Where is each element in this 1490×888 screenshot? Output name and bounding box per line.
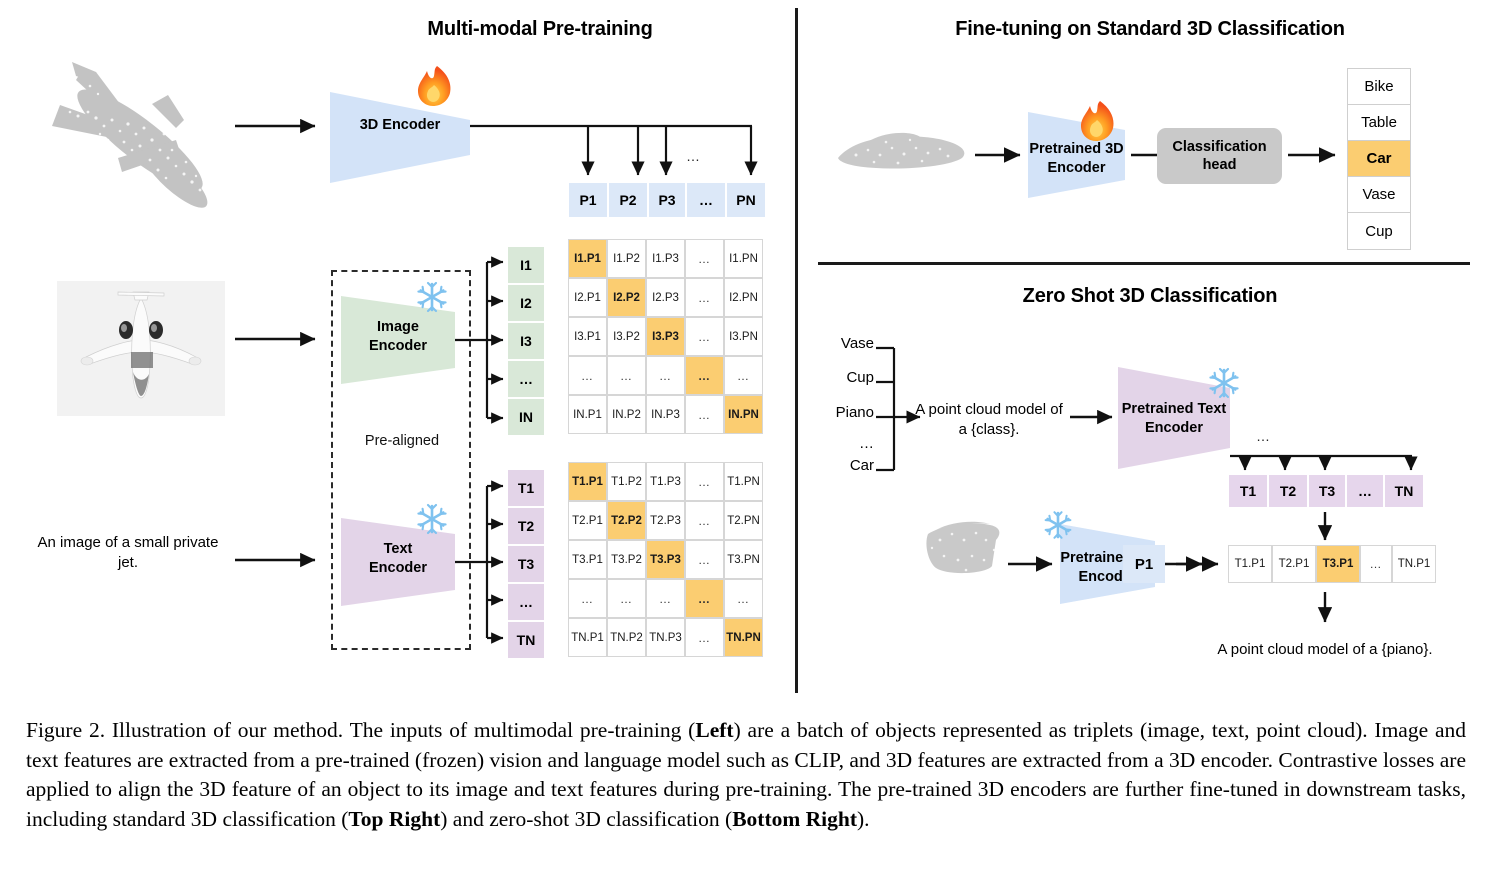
text-sim-cell-r3-c1: T3.P1 [568,540,607,579]
token-i3: I3 [507,322,545,360]
text-sim-cell-r3-c2: T3.P2 [607,540,646,579]
class-option-table[interactable]: Table [1348,105,1410,141]
figure-diagram: Multi-modal Pre-training Fine-tuning on … [0,0,1490,700]
token-t-ellipsis: … [507,583,545,621]
text-sim-cell-r4-c4: … [685,579,724,618]
label-zeroshot-text-encoder-line2: Encoder [1118,419,1230,438]
snowflake-icon-zeroshot-3d-encoder [1046,512,1071,538]
zeroshot-prompt-line2: a {class}. [910,420,1068,440]
image-sim-cell-r5-c5: IN.PN [724,395,763,434]
label-prealigned: Pre-aligned [342,433,462,449]
text-sim-cell-r2-c4: … [685,501,724,540]
text-sim-cell-r5-c1: TN.P1 [568,618,607,657]
point-cloud-piano [926,522,999,573]
panel-title-zeroshot: Zero Shot 3D Classification [840,285,1460,308]
token-p2: P2 [608,182,648,218]
class-option-cup[interactable]: Cup [1348,213,1410,249]
zeroshot-text-token-row: T1 T2 T3 … TN [1228,474,1424,508]
token-i-ellipsis: … [507,360,545,398]
fire-icon-pretraining [418,66,450,106]
zeroshot-sim-cell-3: T3.P1 [1316,545,1360,583]
horizontal-divider [818,262,1470,265]
text-sim-cell-r5-c3: TN.P3 [646,618,685,657]
image-sim-cell-r3-c5: I3.PN [724,317,763,356]
text-sim-cell-r3-c3: T3.P3 [646,540,685,579]
text-sim-cell-r4-c1: … [568,579,607,618]
image-sim-cell-r1-c1: I1.P1 [568,239,607,278]
image-sim-cell-r5-c2: IN.P2 [607,395,646,434]
zeroshot-fanout-ellipsis: … [1256,428,1271,444]
token-tn: TN [507,621,545,659]
text-sim-cell-r1-c2: T1.P2 [607,462,646,501]
text-similarity-matrix: T1.P1T1.P2T1.P3…T1.PNT2.P1T2.P2T2.P3…T2.… [568,462,763,657]
zeroshot-sim-cell-2: T2.P1 [1272,545,1316,583]
token-t1: T1 [507,469,545,507]
zeroshot-similarity-row: T1.P1T2.P1T3.P1…TN.P1 [1228,545,1436,583]
caption-part-6: Bottom Right [732,807,857,831]
zeroshot-token-t1: T1 [1228,474,1268,508]
image-sim-cell-r4-c5: … [724,356,763,395]
zeroshot-token-t-ellipsis: … [1346,474,1384,508]
label-finetune-3d-encoder-line2: Encoder [1028,159,1125,178]
token-p3: P3 [648,182,686,218]
figure-caption: Figure 2. Illustration of our method. Th… [26,716,1466,835]
label-finetune-3d-encoder: Pretrained 3D Encoder [1028,140,1125,177]
zeroshot-class-name-3: Piano [812,404,874,421]
zeroshot-sim-cell-1: T1.P1 [1228,545,1272,583]
zeroshot-prompt-template: A point cloud model of a {class}. [910,400,1068,441]
text-sim-cell-r2-c2: T2.P2 [607,501,646,540]
class-option-bike[interactable]: Bike [1348,69,1410,105]
image-sim-cell-r3-c4: … [685,317,724,356]
zeroshot-token-tn: TN [1384,474,1424,508]
image-sim-cell-r2-c4: … [685,278,724,317]
text-sim-cell-r1-c1: T1.P1 [568,462,607,501]
class-option-vase[interactable]: Vase [1348,177,1410,213]
text-sim-cell-r3-c5: T3.PN [724,540,763,579]
text-sim-cell-r1-c3: T1.P3 [646,462,685,501]
text-sim-cell-r2-c1: T2.P1 [568,501,607,540]
panel-title-finetuning: Fine-tuning on Standard 3D Classificatio… [840,18,1460,41]
token-i1: I1 [507,246,545,284]
image-sim-cell-r5-c3: IN.P3 [646,395,685,434]
text-sim-cell-r2-c5: T2.PN [724,501,763,540]
text-sim-cell-r1-c5: T1.PN [724,462,763,501]
caption-part-2: Left [695,718,733,742]
image-sim-cell-r3-c2: I3.P2 [607,317,646,356]
image-sim-cell-r2-c5: I2.PN [724,278,763,317]
text-sim-cell-r1-c4: … [685,462,724,501]
text-sim-cell-r5-c5: TN.PN [724,618,763,657]
label-finetune-3d-encoder-line1: Pretrained 3D [1028,140,1125,159]
fire-icon-finetuning [1081,101,1113,141]
text-sim-cell-r2-c3: T2.P3 [646,501,685,540]
shape-3d-encoder [330,92,470,183]
snowflake-icon-zeroshot-text-encoder [1210,369,1237,397]
text-sim-cell-r4-c3: … [646,579,685,618]
token-t3: T3 [507,545,545,583]
image-sim-cell-r4-c1: … [568,356,607,395]
image-sim-cell-r1-c5: I1.PN [724,239,763,278]
point-cloud-airplane [52,62,215,216]
image-similarity-matrix: I1.P1I1.P2I1.P3…I1.PNI2.P1I2.P2I2.P3…I2.… [568,239,763,434]
image-sim-cell-r4-c2: … [607,356,646,395]
label-3d-encoder: 3D Encoder [330,117,470,133]
zeroshot-class-name-1: Vase [812,335,874,352]
token-p-ellipsis: … [686,182,726,218]
zeroshot-sim-cell-4: … [1360,545,1392,583]
image-sim-cell-r1-c2: I1.P2 [607,239,646,278]
text-sim-cell-r4-c2: … [607,579,646,618]
image-sim-cell-r1-c3: I1.P3 [646,239,685,278]
text-sim-cell-r4-c5: … [724,579,763,618]
point-cloud-car [838,133,964,169]
text-sim-cell-r3-c4: … [685,540,724,579]
text-input-caption: An image of a small private jet. [28,533,228,572]
image-sim-cell-r2-c2: I2.P2 [607,278,646,317]
image-sim-cell-r1-c4: … [685,239,724,278]
rendered-image-airplane [57,281,225,416]
zeroshot-prompt-line1: A point cloud model of [910,400,1068,420]
image-sim-cell-r2-c3: I2.P3 [646,278,685,317]
class-prediction-list[interactable]: BikeTableCarVaseCup [1347,68,1411,250]
text-token-column: T1 T2 T3 … TN [507,469,545,659]
label-zeroshot-text-encoder: Pretrained Text Encoder [1118,400,1230,437]
caption-part-5: ) and zero-shot 3D classification ( [440,807,732,831]
image-token-column: I1 I2 I3 … IN [507,246,545,436]
panel-title-pretraining: Multi-modal Pre-training [270,18,810,41]
text-sim-cell-r5-c4: … [685,618,724,657]
prealigned-group-box [331,270,471,650]
zeroshot-class-name-5: Car [812,457,874,474]
token-pn: PN [726,182,766,218]
zeroshot-class-name-2: Cup [812,369,874,386]
classification-head-line1: Classification [1172,138,1266,156]
text-sim-cell-r5-c2: TN.P2 [607,618,646,657]
zeroshot-p1-token: P1 [1123,545,1165,583]
token-t2: T2 [507,507,545,545]
caption-part-4: Top Right [348,807,440,831]
vertical-divider [795,8,798,693]
image-sim-cell-r5-c4: … [685,395,724,434]
image-sim-cell-r5-c1: IN.P1 [568,395,607,434]
zeroshot-result-text: A point cloud model of a {piano}. [1175,640,1475,660]
pretraining-fanout-ellipsis: … [686,148,701,164]
token-i2: I2 [507,284,545,322]
fanout-3d-features [470,126,752,175]
zeroshot-class-name-4: … [812,435,874,452]
image-sim-cell-r4-c3: … [646,356,685,395]
image-sim-cell-r4-c4: … [685,356,724,395]
image-sim-cell-r3-c3: I3.P3 [646,317,685,356]
token-p1: P1 [568,182,608,218]
zeroshot-sim-cell-5: TN.P1 [1392,545,1436,583]
label-zeroshot-text-encoder-line1: Pretrained Text [1118,400,1230,419]
classification-head-line2: head [1172,156,1266,174]
image-sim-cell-r2-c1: I2.P1 [568,278,607,317]
point-cloud-token-row: P1 P2 P3 … PN [568,182,766,218]
caption-part-7: ). [857,807,870,831]
token-in: IN [507,398,545,436]
class-option-car[interactable]: Car [1348,141,1410,177]
classification-head-box[interactable]: Classification head [1157,128,1282,184]
zeroshot-token-t2: T2 [1268,474,1308,508]
caption-part-1: Figure 2. Illustration of our method. Th… [26,718,695,742]
image-sim-cell-r3-c1: I3.P1 [568,317,607,356]
fanout-zeroshot-text-features [1230,456,1412,470]
zeroshot-token-t3: T3 [1308,474,1346,508]
